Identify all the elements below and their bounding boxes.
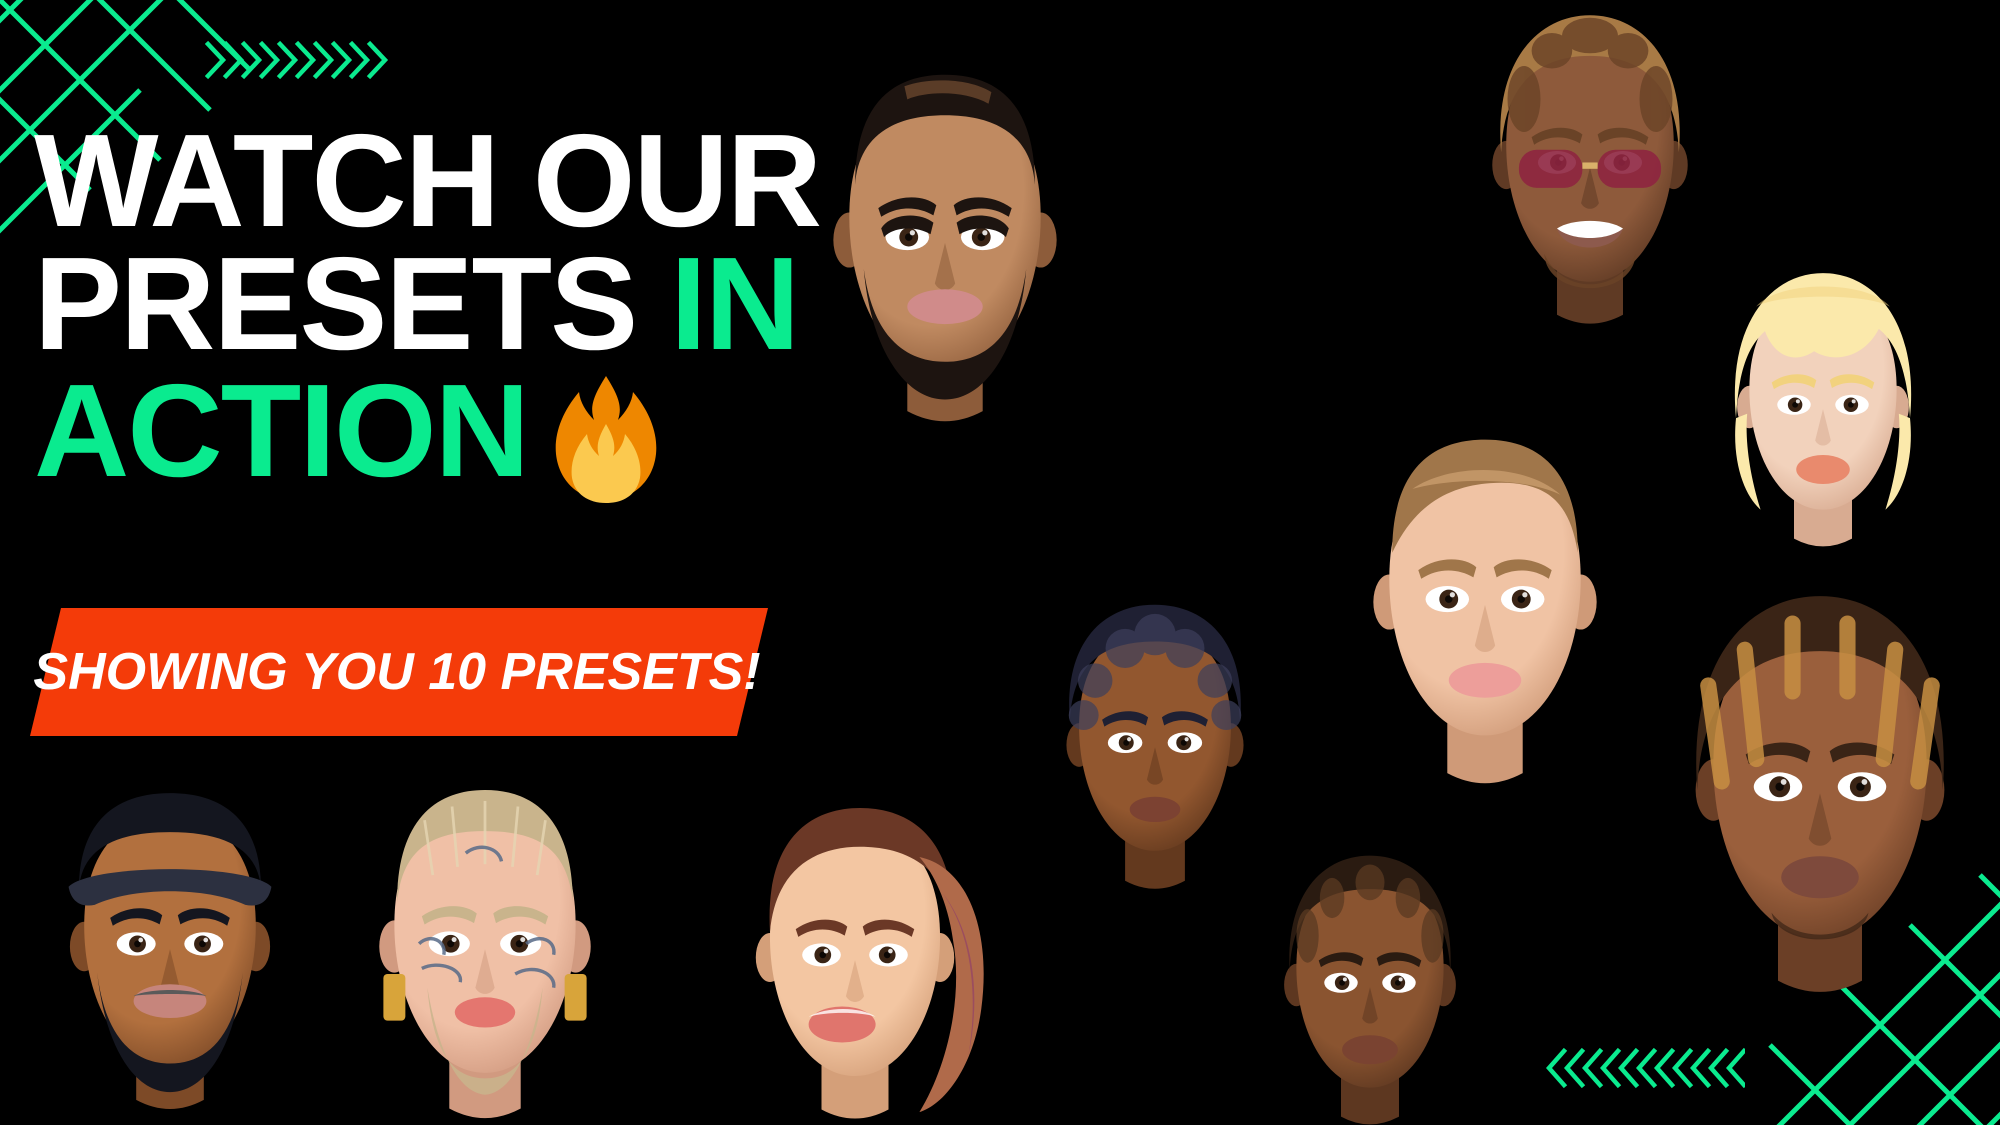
headline-line-1: WATCH OUR (34, 120, 1054, 243)
headline-line-3-green: ACTION (34, 370, 528, 493)
presets-banner: SHOWING YOU 10 PRESETS! (30, 608, 768, 736)
presets-banner-label: SHOWING YOU 10 PRESETS! (28, 608, 766, 736)
headline-line-2-green: IN (670, 230, 798, 377)
portrait-blonde-art (1688, 262, 1958, 552)
portrait-juicewrld-art (1655, 580, 1985, 1000)
thumbnail-canvas: WATCH OUR PRESETSIN ACTION SHOWING YOU 1… (0, 0, 2000, 1125)
portrait-toryLanez-art (40, 768, 300, 1125)
portrait-blonde (1688, 262, 1958, 552)
portrait-postmalone (340, 768, 630, 1125)
portrait-ariana (690, 790, 1020, 1125)
headline-line-2-white: PRESETS (34, 230, 636, 377)
headline-line-2: PRESETSIN (34, 243, 1054, 366)
portrait-bieber (1340, 392, 1630, 812)
fire-icon (546, 372, 666, 504)
headline-line-3: ACTION (34, 366, 1054, 498)
portrait-bieber-art (1340, 392, 1630, 812)
chevron-row-left-icon (1545, 1041, 1745, 1095)
portrait-postmalone-art (340, 768, 630, 1125)
portrait-juicewrld (1655, 580, 1985, 1000)
portrait-lilbaby (1235, 840, 1505, 1125)
chevron-row-right-icon (205, 34, 395, 86)
portrait-ariana-art (690, 790, 1020, 1125)
portrait-toryLanez (40, 768, 300, 1125)
portrait-lilbaby-art (1235, 840, 1505, 1125)
headline-block: WATCH OUR PRESETSIN ACTION (34, 120, 1054, 498)
